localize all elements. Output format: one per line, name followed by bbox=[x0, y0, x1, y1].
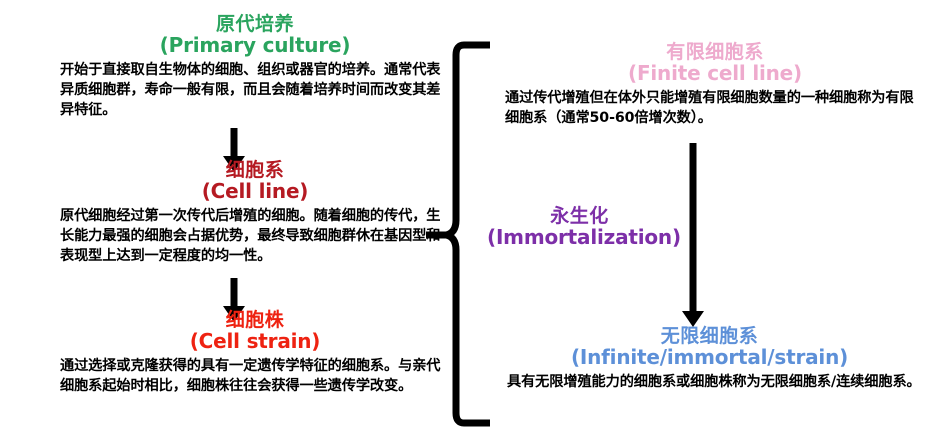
primary-culture-heading-cn: 原代培养 bbox=[60, 14, 450, 35]
node-primary-culture: 原代培养 (Primary culture) 开始于直接取自生物体的细胞、组织或… bbox=[60, 14, 450, 121]
node-cell-strain: 细胞株 (Cell strain) 通过选择或克隆获得的具有一定遗传学特征的细胞… bbox=[60, 310, 450, 396]
primary-culture-body: 开始于直接取自生物体的细胞、组织或器官的培养。通常代表异质细胞群，寿命一般有限，… bbox=[60, 60, 450, 120]
cell-line-body: 原代细胞经过第一次传代后增殖的细胞。随着细胞的传代，生长能力最强的细胞会占据优势… bbox=[60, 206, 450, 266]
finite-cell-line-body-part2: 倍增次数）。 bbox=[634, 110, 711, 126]
diagram-canvas: 原代培养 (Primary culture) 开始于直接取自生物体的细胞、组织或… bbox=[0, 0, 935, 434]
primary-culture-heading-en: (Primary culture) bbox=[60, 35, 450, 57]
immortalization-heading-cn: 永生化 bbox=[487, 206, 672, 227]
finite-cell-line-heading-en: (Finite cell line) bbox=[505, 63, 925, 85]
finite-cell-line-body: 通过传代增殖但在体外只能增殖有限细胞数量的一种细胞称为有限细胞系（通常50-60… bbox=[505, 88, 925, 128]
cell-strain-body: 通过选择或克隆获得的具有一定遗传学特征的细胞系。与亲代细胞系起始时相比，细胞株往… bbox=[60, 356, 450, 396]
immortalization-heading-en: (Immortalization) bbox=[487, 227, 672, 249]
cell-strain-heading-en: (Cell strain) bbox=[60, 331, 450, 353]
node-infinite-cell-line: 无限细胞系 (Infinite/immortal/strain) 具有无限增殖能… bbox=[497, 326, 922, 392]
finite-cell-line-heading-cn: 有限细胞系 bbox=[505, 42, 925, 63]
infinite-cell-line-body: 具有无限增殖能力的细胞系或细胞株称为无限细胞系/连续细胞系。 bbox=[497, 372, 922, 392]
cell-strain-heading-cn: 细胞株 bbox=[60, 310, 450, 331]
finite-cell-line-body-emphasis: 50-60 bbox=[590, 110, 635, 126]
node-cell-line: 细胞系 (Cell line) 原代细胞经过第一次传代后增殖的细胞。随着细胞的传… bbox=[60, 160, 450, 267]
left-curly-brace bbox=[420, 38, 490, 430]
immortalization-heading: 永生化 (Immortalization) bbox=[487, 206, 672, 248]
cell-line-heading: 细胞系 (Cell line) bbox=[60, 160, 450, 202]
primary-culture-heading: 原代培养 (Primary culture) bbox=[60, 14, 450, 56]
cell-strain-heading: 细胞株 (Cell strain) bbox=[60, 310, 450, 352]
cell-line-heading-en: (Cell line) bbox=[60, 181, 450, 203]
brace-icon bbox=[420, 38, 490, 430]
node-immortalization: 永生化 (Immortalization) bbox=[487, 206, 672, 248]
cell-line-heading-cn: 细胞系 bbox=[60, 160, 450, 181]
node-finite-cell-line: 有限细胞系 (Finite cell line) 通过传代增殖但在体外只能增殖有… bbox=[505, 42, 925, 128]
infinite-cell-line-heading-cn: 无限细胞系 bbox=[497, 326, 922, 347]
finite-cell-line-heading: 有限细胞系 (Finite cell line) bbox=[505, 42, 925, 84]
infinite-cell-line-heading-en: (Infinite/immortal/strain) bbox=[497, 347, 922, 369]
infinite-cell-line-heading: 无限细胞系 (Infinite/immortal/strain) bbox=[497, 326, 922, 368]
